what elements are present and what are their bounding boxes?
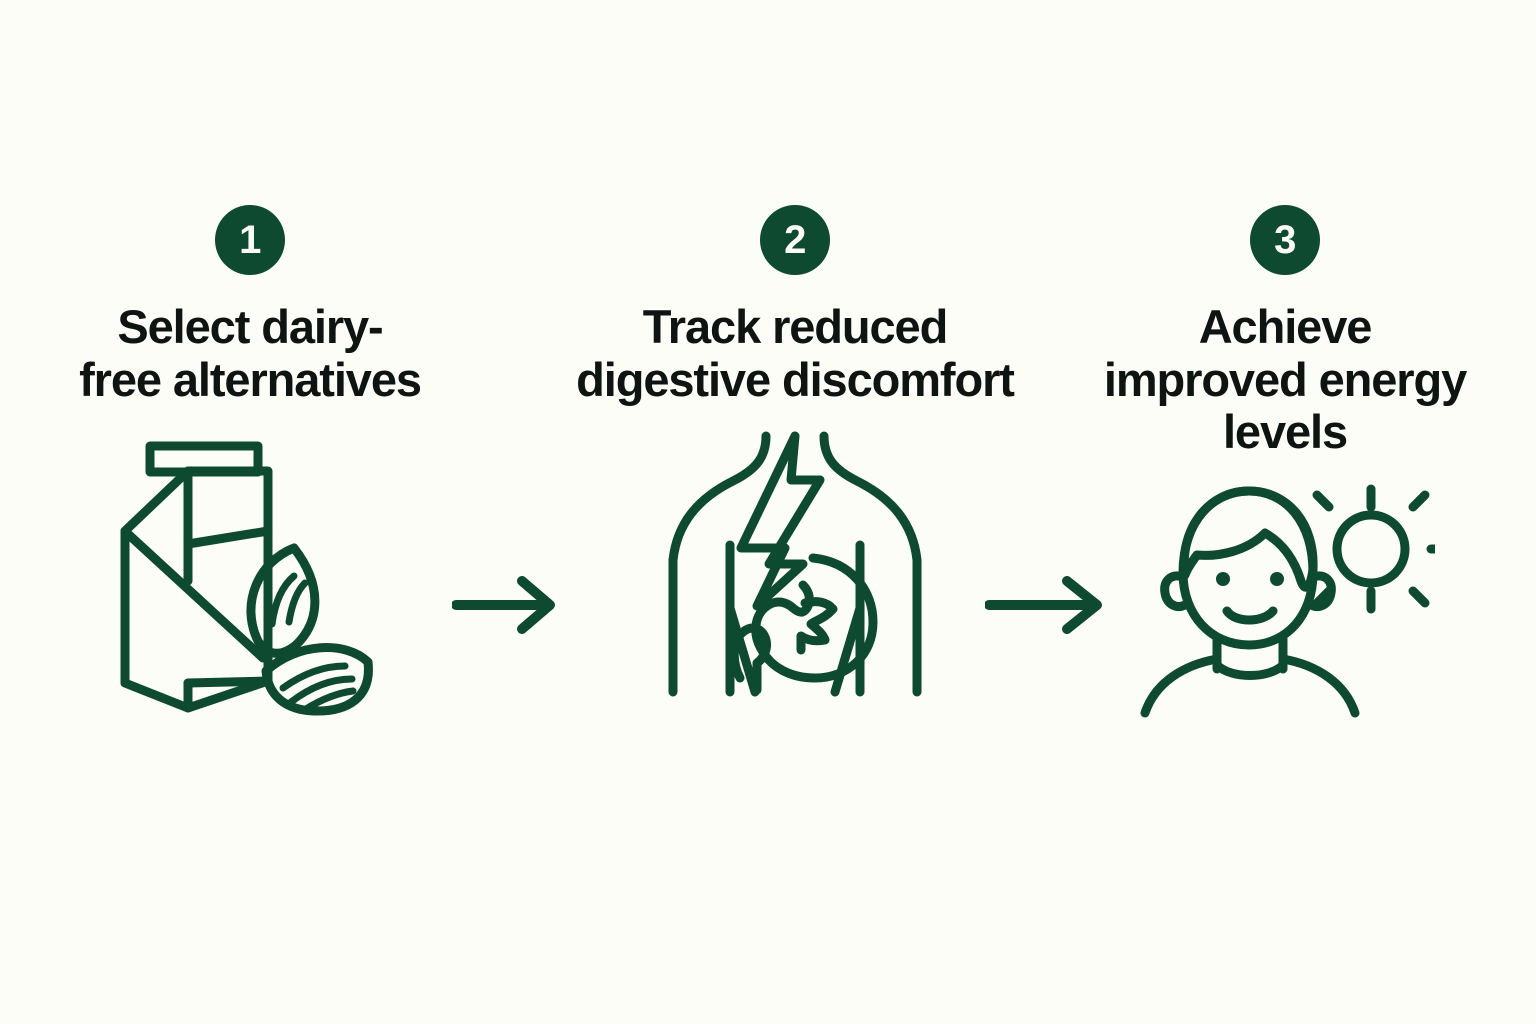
torso-stomach-lightning-bolt-icon <box>645 428 945 700</box>
step-number-badge-3: 3 <box>1250 205 1320 275</box>
step-title-2: Track reduced digestive discomfort <box>576 301 1014 406</box>
step-title-3: Achieve improved energy levels <box>1104 301 1466 459</box>
smiling-person-with-sun-icon <box>1135 469 1435 719</box>
step-number-badge-2: 2 <box>760 205 830 275</box>
step-number-badge-1: 1 <box>215 205 285 275</box>
milk-carton-crossed-with-almonds-icon <box>100 436 400 716</box>
arrow-right-icon-1 <box>452 574 562 636</box>
step-title-1: Select dairy- free alternatives <box>79 301 421 406</box>
step-3: 3 Achieve improved energy levels <box>1075 205 1495 719</box>
step-2: 2 Track reduced digestive discomfort <box>560 205 1030 700</box>
process-flow-infographic: 1 Select dairy- free alternatives <box>0 0 1536 1024</box>
step-1: 1 Select dairy- free alternatives <box>40 205 460 716</box>
